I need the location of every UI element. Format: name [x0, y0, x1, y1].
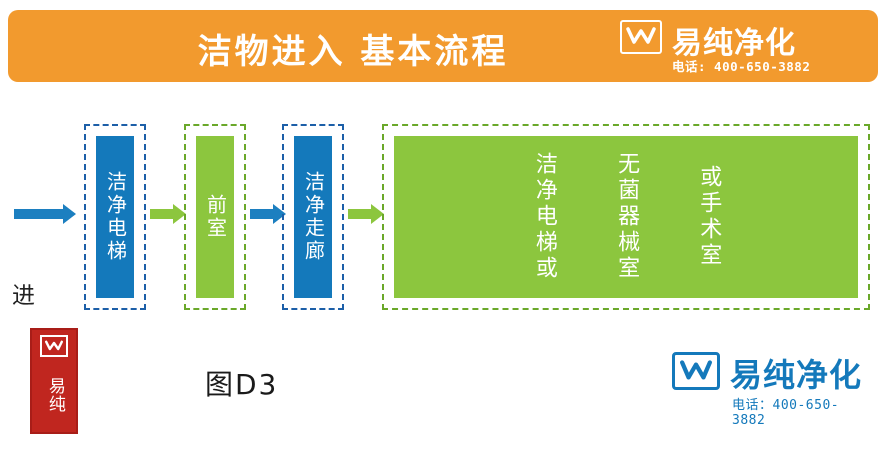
room-clean-elevator-or-label: 洁净电梯或 — [532, 152, 556, 282]
node-clean-rooms-group[interactable]: 洁净电梯或 无菌器械室 或手术室 — [394, 136, 858, 298]
node-clean-elevator-label: 洁净电梯 — [105, 171, 126, 263]
footer-brand-logo: 易纯净化 电话：400-650-3882 — [672, 352, 872, 424]
entry-label: 进 — [12, 276, 35, 310]
room-operating-room-label: 或手术室 — [696, 165, 720, 269]
arrow-entry — [14, 204, 76, 224]
node-clean-corridor-label: 洁净走廊 — [303, 171, 324, 263]
header-brand-phone: 电话: 400-650-3882 — [672, 56, 810, 75]
footer-brand-name: 易纯净化 — [730, 350, 862, 396]
yichun-w-mark-icon — [620, 20, 662, 54]
room-sterile-instrument-label: 无菌器械室 — [614, 152, 638, 282]
node-clean-elevator[interactable]: 洁净电梯 — [96, 136, 134, 298]
page-title: 洁物进入 基本流程 — [8, 24, 698, 73]
header-banner: 洁物进入 基本流程 易纯净化 电话: 400-650-3882 — [8, 10, 878, 82]
arrow-corridor-to-rooms — [348, 204, 384, 224]
figure-caption: 图D3 — [205, 363, 278, 403]
yichun-w-mark-icon — [672, 352, 720, 390]
arrow-anteroom-to-corridor — [250, 204, 286, 224]
flow-diagram: 进 洁净电梯 前室 洁净走廊 洁净电梯或 无菌器械室 或手术室 — [0, 100, 886, 325]
header-brand-logo: 易纯净化 电话: 400-650-3882 — [620, 20, 860, 74]
node-anteroom-label: 前室 — [205, 194, 226, 240]
footer-brand-phone: 电话：400-650-3882 — [732, 394, 872, 428]
yichun-w-mark-icon — [40, 335, 68, 357]
red-seal-stamp: 易纯 — [30, 328, 78, 434]
node-clean-corridor[interactable]: 洁净走廊 — [294, 136, 332, 298]
seal-text: 易纯 — [45, 361, 63, 429]
node-anteroom[interactable]: 前室 — [196, 136, 234, 298]
arrow-elevator-to-anteroom — [150, 204, 186, 224]
